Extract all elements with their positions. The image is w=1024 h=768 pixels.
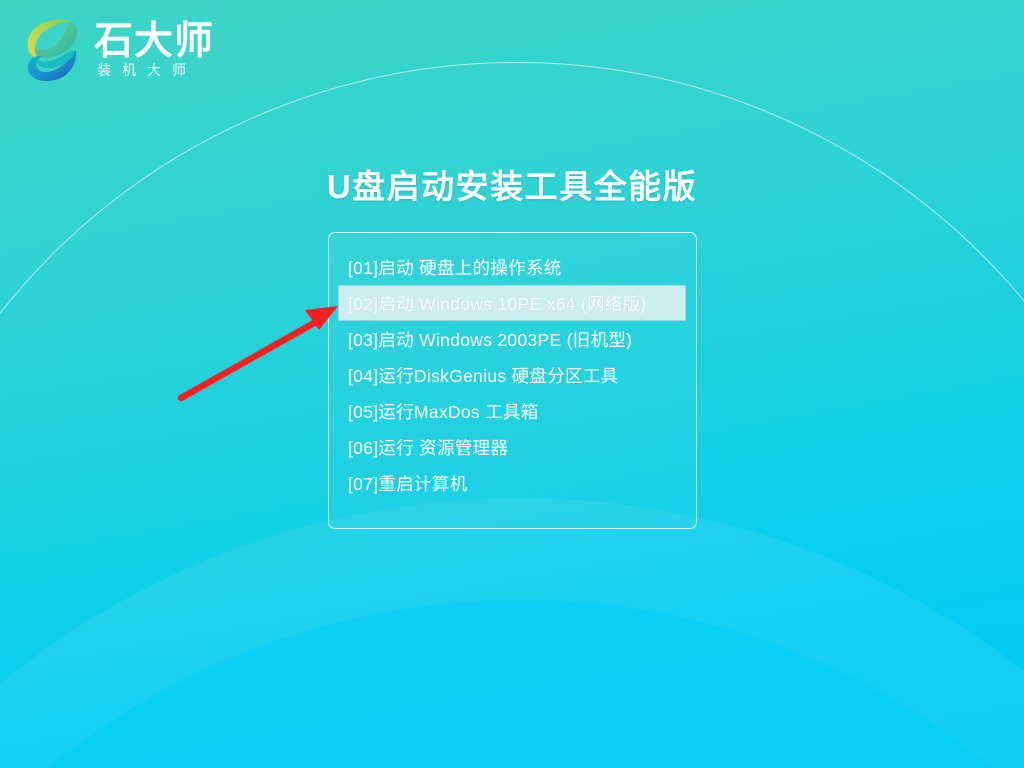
brand-logo-text: 石大师 装机大师 (94, 20, 214, 81)
background-wedge-inner (0, 600, 1024, 768)
boot-menu-screen: 石大师 装机大师 U盘启动安装工具全能版 [01]启动 硬盘上的操作系统 [02… (0, 0, 1024, 768)
boot-menu-item-01[interactable]: [01]启动 硬盘上的操作系统 (338, 249, 686, 285)
boot-menu-list: [01]启动 硬盘上的操作系统 [02]启动 Windows 10PE x64 … (329, 233, 696, 501)
boot-menu-item-06[interactable]: [06]运行 资源管理器 (338, 429, 686, 465)
boot-menu-item-02[interactable]: [02]启动 Windows 10PE x64 (网络版) (338, 285, 686, 321)
boot-menu-item-07[interactable]: [07]重启计算机 (338, 465, 686, 501)
boot-menu-item-04[interactable]: [04]运行DiskGenius 硬盘分区工具 (338, 357, 686, 393)
red-arrow-icon (181, 306, 338, 398)
boot-menu-item-05[interactable]: [05]运行MaxDos 工具箱 (338, 393, 686, 429)
boot-menu-panel: [01]启动 硬盘上的操作系统 [02]启动 Windows 10PE x64 … (328, 232, 697, 529)
background-wedge-mid (0, 498, 1024, 768)
brand-logo: 石大师 装机大师 (22, 14, 214, 86)
brand-title: 石大师 (94, 22, 214, 62)
boot-menu-item-03[interactable]: [03]启动 Windows 2003PE (旧机型) (338, 321, 686, 357)
brand-subtitle: 装机大师 (94, 61, 214, 80)
shidashi-leaf-logo-icon (22, 14, 84, 86)
page-title: U盘启动安装工具全能版 (0, 160, 1024, 208)
